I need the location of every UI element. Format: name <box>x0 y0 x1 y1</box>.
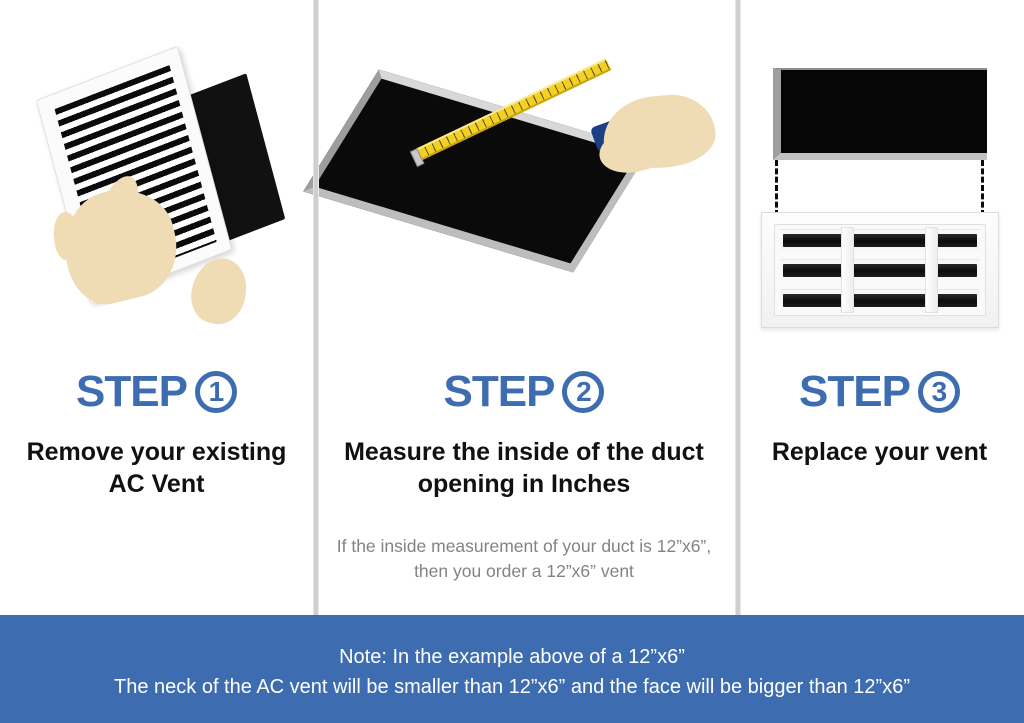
steps-panel-row: STEP 1 Remove your existing AC Vent <box>0 0 1024 615</box>
duct-opening-shape <box>303 70 649 273</box>
instruction-graphic: STEP 1 Remove your existing AC Vent <box>0 0 1024 723</box>
step-2-note: If the inside measurement of your duct i… <box>313 534 735 585</box>
alignment-dashed-line <box>981 160 984 216</box>
note-banner: Note: In the example above of a 12”x6” T… <box>0 615 1024 723</box>
vent-louver <box>780 229 980 251</box>
step-2-word: STEP <box>444 370 555 414</box>
step-panel-3: STEP 3 Replace your vent <box>735 0 1024 615</box>
step-1-artwork <box>0 0 313 370</box>
panel-divider <box>313 0 319 615</box>
vent-louver <box>780 289 980 311</box>
step-3-artwork <box>735 0 1024 370</box>
vent-replacement-illustration <box>759 60 1001 340</box>
step-3-number-badge: 3 <box>918 371 960 413</box>
panel-divider <box>735 0 741 615</box>
step-2-title: Measure the inside of the duct opening i… <box>313 436 735 500</box>
vent-louver <box>780 259 980 281</box>
vent-support-bar <box>925 227 938 313</box>
step-panel-1: STEP 1 Remove your existing AC Vent <box>0 0 313 615</box>
step-1-word: STEP <box>76 370 187 414</box>
step-1-title: Remove your existing AC Vent <box>0 436 313 500</box>
step-1-heading: STEP 1 <box>0 370 313 414</box>
step-3-title: Replace your vent <box>735 436 1024 468</box>
duct-measuring-illustration <box>331 88 721 278</box>
step-2-number-badge: 2 <box>562 371 604 413</box>
note-banner-line-1: Note: In the example above of a 12”x6” <box>339 642 685 672</box>
thumb-shape <box>187 254 252 328</box>
note-banner-line-2: The neck of the AC vent will be smaller … <box>114 672 910 702</box>
step-2-artwork <box>313 0 735 370</box>
vent-support-bar <box>841 227 854 313</box>
new-vent-shape <box>761 212 999 328</box>
step-2-heading: STEP 2 <box>313 370 735 414</box>
vent-removal-illustration <box>50 62 280 312</box>
alignment-dashed-line <box>775 160 778 216</box>
step-3-heading: STEP 3 <box>735 370 1024 414</box>
step-panel-2: STEP 2 Measure the inside of the duct op… <box>313 0 735 615</box>
duct-opening-shape <box>773 68 987 160</box>
vent-louver-group <box>774 224 986 316</box>
step-1-number-badge: 1 <box>195 371 237 413</box>
step-3-word: STEP <box>799 370 910 414</box>
